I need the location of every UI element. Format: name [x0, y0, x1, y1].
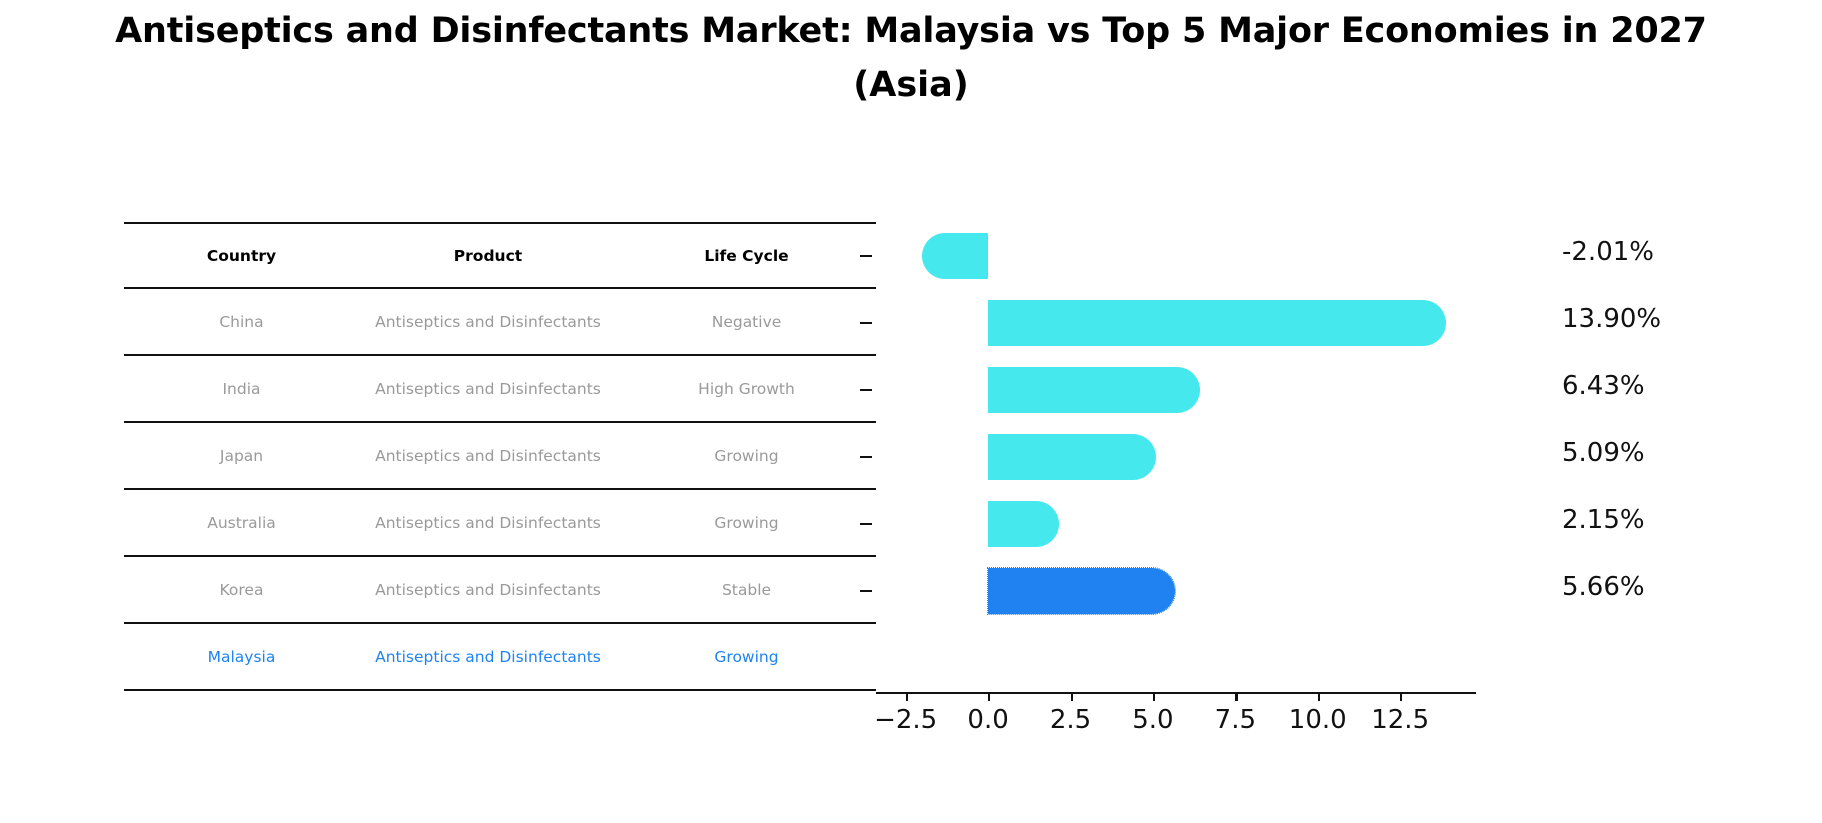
- x-axis-tick-label: 7.5: [1215, 705, 1256, 735]
- column-header-product: Product: [359, 223, 617, 288]
- x-axis-tick-label: 12.5: [1371, 705, 1429, 735]
- table-cell-product: Antiseptics and Disinfectants: [359, 288, 617, 355]
- table-cell-product: Antiseptics and Disinfectants: [359, 556, 617, 623]
- bar-australia[interactable]: [988, 434, 1156, 480]
- table-cell-life-cycle: High Growth: [617, 355, 876, 422]
- y-axis-tick: [860, 322, 872, 324]
- country-table: Country Product Life Cycle ChinaAntisept…: [124, 222, 876, 691]
- table-row[interactable]: JapanAntiseptics and DisinfectantsGrowin…: [124, 422, 876, 489]
- bar-value-label: -2.01%: [1562, 237, 1654, 267]
- x-axis-tick: [1071, 692, 1073, 701]
- table-cell-life-cycle: Growing: [617, 422, 876, 489]
- column-header-life-cycle: Life Cycle: [617, 223, 876, 288]
- y-axis-tick: [860, 255, 872, 257]
- table-cell-country: Korea: [124, 556, 359, 623]
- x-axis-tick: [1235, 692, 1237, 701]
- table-cell-product: Antiseptics and Disinfectants: [359, 489, 617, 556]
- x-axis-tick: [1318, 692, 1320, 701]
- x-axis-tick-label: 5.0: [1132, 705, 1173, 735]
- y-axis-tick: [860, 590, 872, 592]
- x-axis-tick: [906, 692, 908, 701]
- bar-row: 5.09%: [876, 423, 1476, 490]
- bar-row: 2.15%: [876, 490, 1476, 557]
- page-title: Antiseptics and Disinfectants Market: Ma…: [0, 8, 1822, 108]
- bar-japan[interactable]: [988, 367, 1200, 413]
- country-table-panel: Country Product Life Cycle ChinaAntisept…: [124, 222, 876, 691]
- bar-india[interactable]: [988, 300, 1446, 346]
- table-cell-life-cycle: Growing: [617, 489, 876, 556]
- y-axis-tick: [860, 389, 872, 391]
- x-axis-tick-label: −2.5: [874, 705, 937, 735]
- y-axis-tick: [860, 456, 872, 458]
- bar-value-label: 6.43%: [1562, 371, 1645, 401]
- column-header-country: Country: [124, 223, 359, 288]
- table-header: Country Product Life Cycle: [124, 223, 876, 288]
- title-line-primary: Antiseptics and Disinfectants Market: Ma…: [0, 8, 1822, 54]
- table-row[interactable]: ChinaAntiseptics and DisinfectantsNegati…: [124, 288, 876, 355]
- bar-value-label: 5.66%: [1562, 572, 1645, 602]
- table-cell-product: Antiseptics and Disinfectants: [359, 623, 617, 690]
- x-axis: −2.50.02.55.07.510.012.5: [876, 692, 1516, 752]
- table-row[interactable]: KoreaAntiseptics and DisinfectantsStable: [124, 556, 876, 623]
- table-cell-product: Antiseptics and Disinfectants: [359, 422, 617, 489]
- table-row[interactable]: IndiaAntiseptics and DisinfectantsHigh G…: [124, 355, 876, 422]
- bar-row: 13.90%: [876, 289, 1476, 356]
- bar-value-label: 13.90%: [1562, 304, 1661, 334]
- table-row[interactable]: MalaysiaAntiseptics and DisinfectantsGro…: [124, 623, 876, 690]
- table-cell-country: Malaysia: [124, 623, 359, 690]
- title-line-secondary: (Asia): [0, 62, 1822, 108]
- bar-china[interactable]: [922, 233, 988, 279]
- x-axis-tick-label: 10.0: [1289, 705, 1347, 735]
- x-axis-line: [876, 692, 1476, 694]
- table-cell-life-cycle: Growing: [617, 623, 876, 690]
- table-cell-country: Japan: [124, 422, 359, 489]
- bar-malaysia[interactable]: [988, 568, 1175, 614]
- plot-area: -2.01%13.90%6.43%5.09%2.15%5.66%: [876, 222, 1476, 692]
- bar-row: -2.01%: [876, 222, 1476, 289]
- x-axis-tick-label: 0.0: [967, 705, 1008, 735]
- table-cell-country: China: [124, 288, 359, 355]
- bar-korea[interactable]: [988, 501, 1059, 547]
- table-cell-life-cycle: Stable: [617, 556, 876, 623]
- table-cell-country: Australia: [124, 489, 359, 556]
- table-header-row: Country Product Life Cycle: [124, 223, 876, 288]
- table-row[interactable]: AustraliaAntiseptics and DisinfectantsGr…: [124, 489, 876, 556]
- table-cell-product: Antiseptics and Disinfectants: [359, 355, 617, 422]
- table-body: ChinaAntiseptics and DisinfectantsNegati…: [124, 288, 876, 690]
- bar-value-label: 5.09%: [1562, 438, 1645, 468]
- x-axis-tick: [1400, 692, 1402, 701]
- x-axis-tick: [988, 692, 990, 701]
- bar-row: 6.43%: [876, 356, 1476, 423]
- bar-row: 5.66%: [876, 557, 1476, 624]
- y-axis-tick: [860, 523, 872, 525]
- x-axis-tick-label: 2.5: [1050, 705, 1091, 735]
- table-cell-life-cycle: Negative: [617, 288, 876, 355]
- table-cell-country: India: [124, 355, 359, 422]
- bar-value-label: 2.15%: [1562, 505, 1645, 535]
- bar-chart: -2.01%13.90%6.43%5.09%2.15%5.66% −2.50.0…: [876, 222, 1822, 752]
- x-axis-tick: [1153, 692, 1155, 701]
- chart-page: Antiseptics and Disinfectants Market: Ma…: [0, 0, 1822, 823]
